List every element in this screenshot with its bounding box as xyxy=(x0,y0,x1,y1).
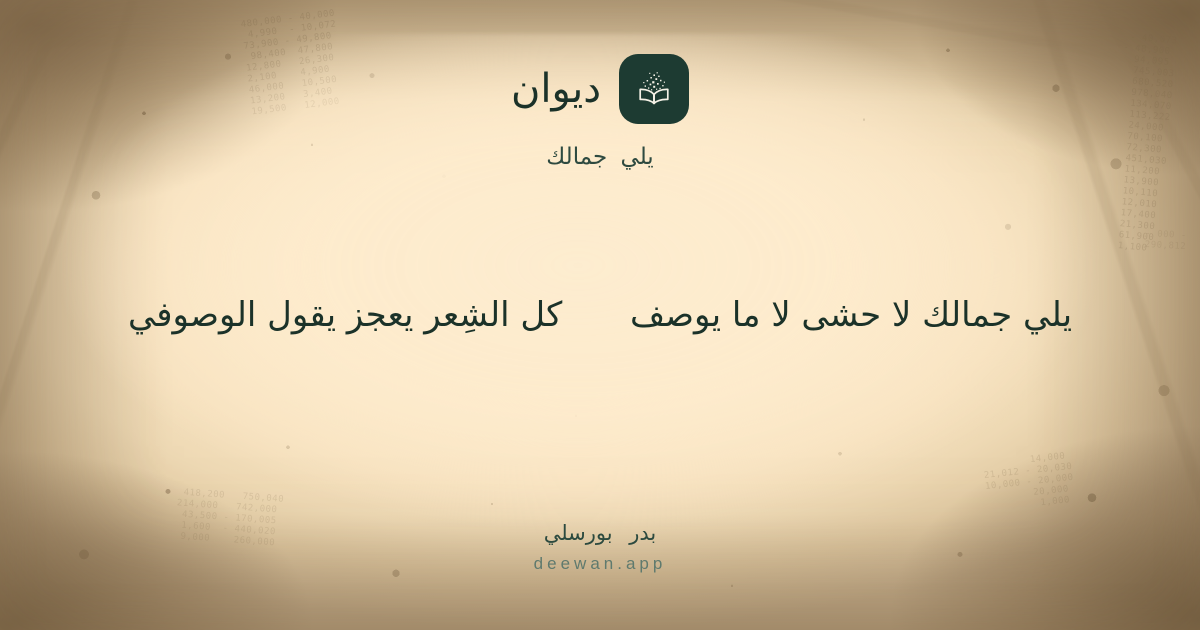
verse-hemistich-first: يلي جمالك لا حشى لا ما يوصف xyxy=(630,295,1072,335)
poem-title: يلي جمالك xyxy=(546,144,653,170)
poem-author: بدر بورسلي xyxy=(0,521,1200,545)
site-url[interactable]: deewan.app xyxy=(0,554,1200,574)
card-footer: بدر بورسلي deewan.app xyxy=(0,521,1200,574)
card-content: ديوان يلي جمالك يلي جمالك لا حشى لا ما ي… xyxy=(0,0,1200,630)
poem-share-card: 40,000 - 480,000 10,072 - 4,990 49,800 -… xyxy=(0,0,1200,630)
brand-name: ديوان xyxy=(511,69,601,109)
verse-hemistich-second: كل الشِعر يعجز يقول الوصوفي xyxy=(128,295,562,335)
open-book-sparkles-icon xyxy=(632,67,676,111)
deewan-logo xyxy=(619,54,689,124)
brand-header: ديوان xyxy=(511,54,689,124)
poem-verse: يلي جمالك لا حشى لا ما يوصف كل الشِعر يع… xyxy=(35,290,1165,341)
